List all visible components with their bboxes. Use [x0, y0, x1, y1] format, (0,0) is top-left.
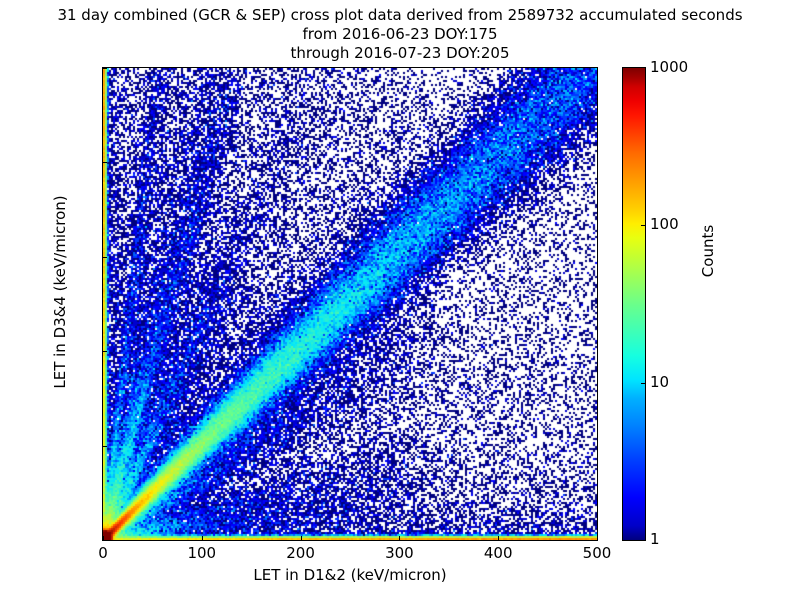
x-tick-label: 500	[557, 546, 637, 561]
colorbar-label: Counts	[699, 191, 717, 311]
x-tick-mark	[399, 536, 400, 540]
chart-title-line-1: 31 day combined (GCR & SEP) cross plot d…	[0, 6, 800, 25]
x-tick-mark	[103, 536, 104, 540]
x-tick-label: 100	[162, 546, 242, 561]
y-tick-mark	[103, 446, 107, 447]
y-tick-mark	[103, 257, 107, 258]
y-tick-mark	[103, 162, 107, 163]
x-tick-label: 300	[359, 546, 439, 561]
colorbar-gradient	[622, 67, 646, 541]
chart-title-line-2: from 2016-06-23 DOY:175	[0, 25, 800, 44]
colorbar: 1101001000	[622, 67, 646, 541]
y-tick-mark	[103, 68, 107, 69]
scatter-plot-data	[103, 68, 597, 540]
y-tick-mark	[103, 540, 107, 541]
colorbar-tick-label: 1000	[650, 60, 688, 75]
colorbar-tick-mark	[641, 225, 646, 226]
x-axis-label: LET in D1&2 (keV/micron)	[102, 566, 598, 584]
x-tick-label: 200	[261, 546, 341, 561]
chart-title: 31 day combined (GCR & SEP) cross plot d…	[0, 6, 800, 63]
figure-canvas: 31 day combined (GCR & SEP) cross plot d…	[0, 0, 800, 600]
x-tick-label: 400	[458, 546, 538, 561]
x-tick-mark	[498, 536, 499, 540]
y-tick-mark	[103, 351, 107, 352]
x-tick-mark	[597, 536, 598, 540]
y-axis-label: LET in D3&4 (keV/micron)	[51, 162, 69, 422]
x-tick-mark	[301, 536, 302, 540]
colorbar-tick-label: 100	[650, 217, 679, 232]
x-tick-mark	[202, 536, 203, 540]
colorbar-tick-mark	[641, 383, 646, 384]
colorbar-tick-label: 1	[650, 532, 660, 547]
x-tick-label: 0	[63, 546, 143, 561]
plot-area	[102, 67, 598, 541]
colorbar-tick-label: 10	[650, 375, 669, 390]
